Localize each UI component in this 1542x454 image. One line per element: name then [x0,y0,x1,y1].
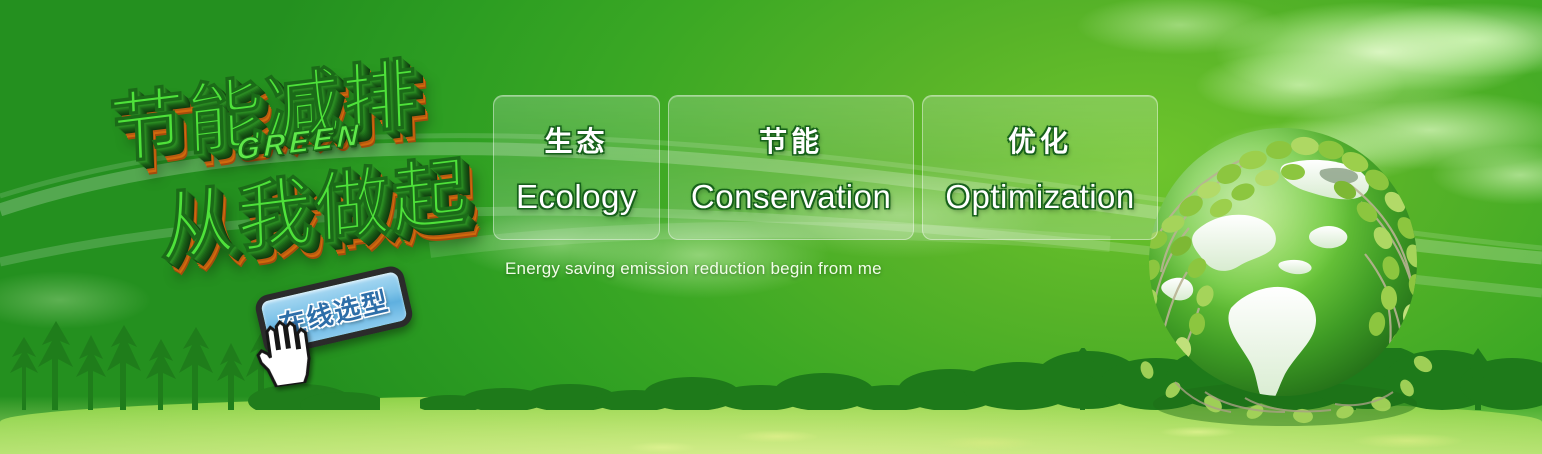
feature-card-conservation[interactable]: 节能 Conservation [668,95,914,240]
headline-line-2: 从我做起 [157,129,471,277]
feature-card-en-label: Ecology [516,178,637,216]
feature-card-cn-label: 节能 [759,120,823,160]
feature-card-list: 生态 Ecology 节能 Conservation 优化 Optimizati… [493,95,1158,240]
feature-card-en-label: Optimization [945,178,1134,216]
leafy-earth-globe-icon [1135,112,1435,432]
green-energy-banner: 节能减排 GREEN 从我做起 生态 Ecology 节能 Conservati… [0,0,1542,454]
feature-card-cn-label: 生态 [544,120,608,160]
headline-line-1: 节能减排 [107,31,421,179]
headline-art: 节能减排 GREEN 从我做起 [96,40,496,270]
feature-card-ecology[interactable]: 生态 Ecology [493,95,660,240]
banner-subtitle: Energy saving emission reduction begin f… [505,259,882,279]
feature-card-en-label: Conservation [691,178,891,216]
headline-accent-word: GREEN [236,118,362,168]
pointing-hand-cursor-icon [248,316,317,390]
feature-card-cn-label: 优化 [1008,120,1072,160]
online-selection-cta[interactable]: 在线选型 [252,272,422,372]
feature-card-optimization[interactable]: 优化 Optimization [922,95,1157,240]
